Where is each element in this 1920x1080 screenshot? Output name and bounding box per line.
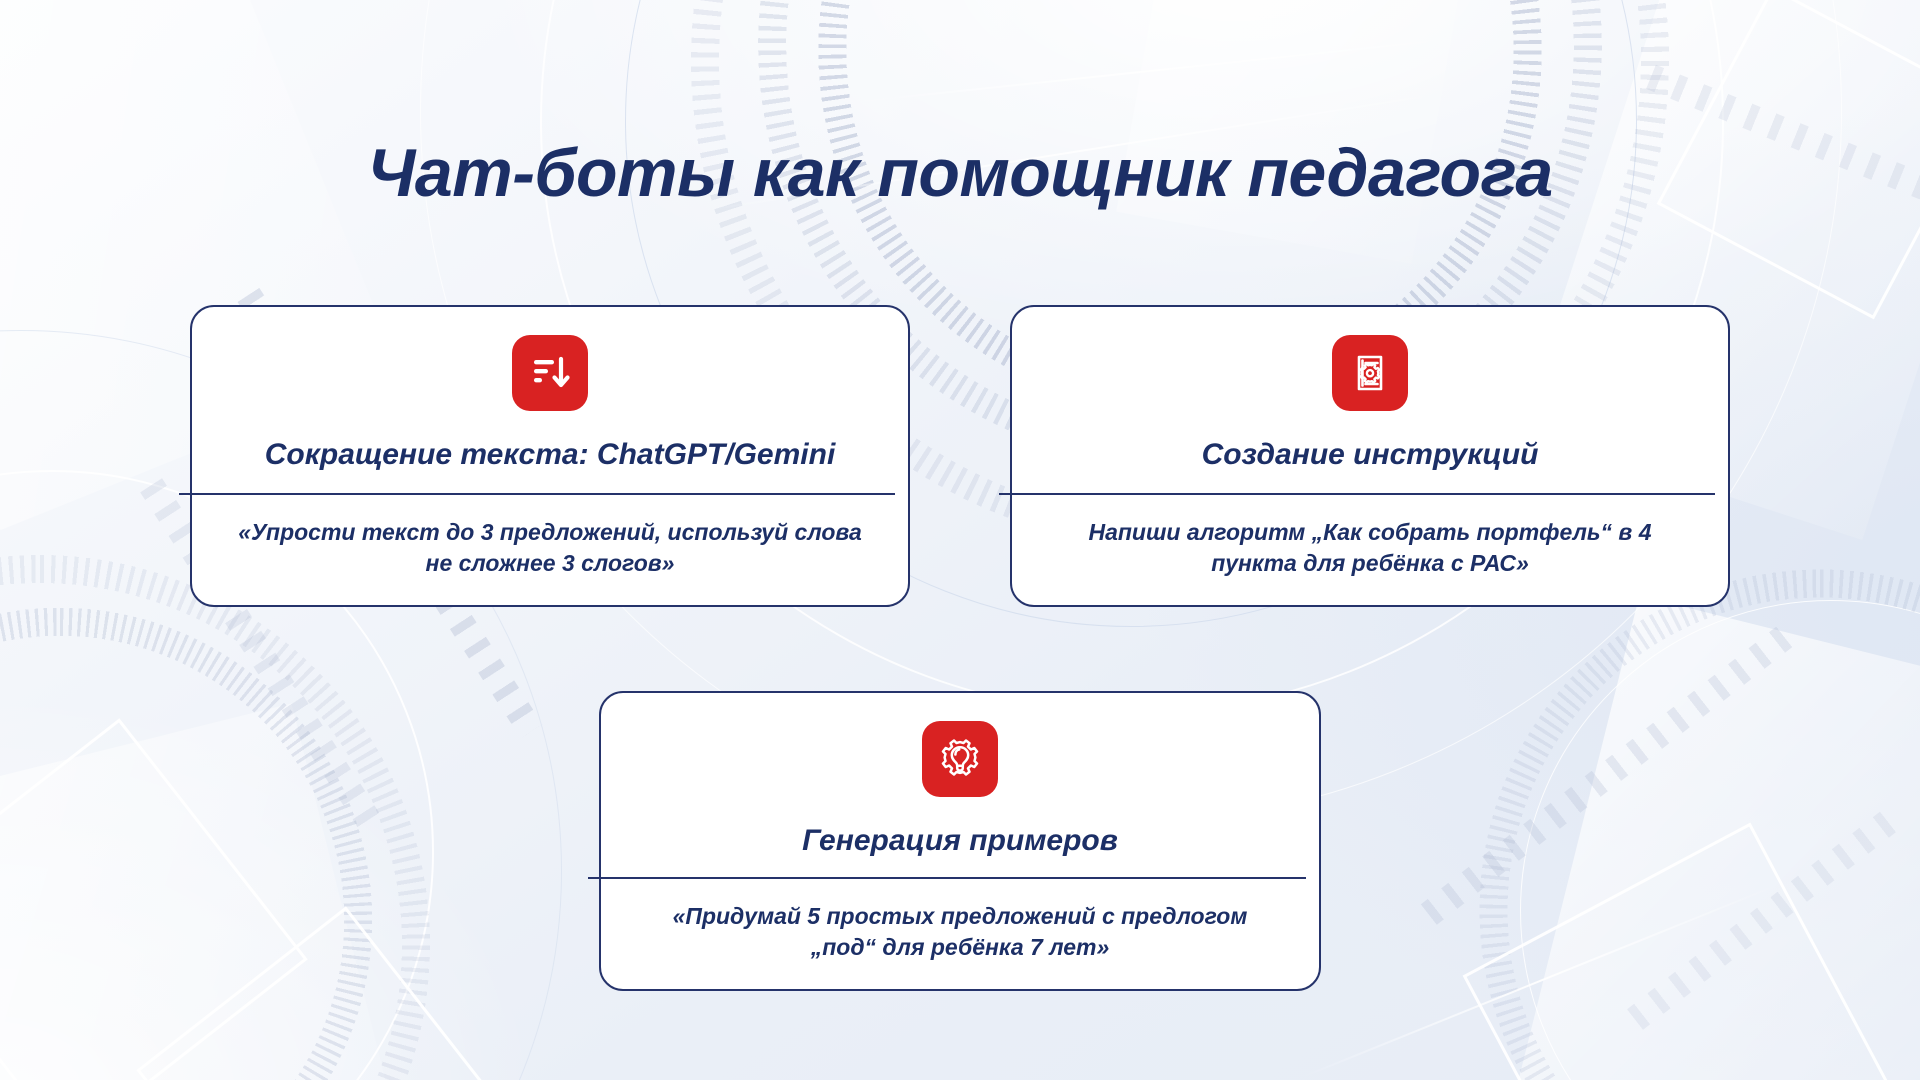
card-quote: «Упрости текст до 3 предложений, использ…	[218, 495, 882, 605]
card-quote: «Придумай 5 простых предложений с предло…	[627, 879, 1293, 989]
document-gear-instructions-icon	[1332, 335, 1408, 411]
card-title: Создание инструкций	[1038, 437, 1702, 493]
card-instruction-creation[interactable]: Создание инструкций Напиши алгоритм „Как…	[1010, 305, 1730, 607]
slide-content: Чат-боты как помощник педагога	[0, 0, 1920, 1080]
page-title: Чат-боты как помощник педагога	[0, 138, 1920, 209]
lightbulb-gear-idea-icon	[922, 721, 998, 797]
card-quote: Напиши алгоритм „Как собрать портфель“ в…	[1038, 495, 1702, 605]
card-text-shortening[interactable]: Сокращение текста: ChatGPT/Gemini «Упрос…	[190, 305, 910, 607]
card-title: Генерация примеров	[627, 823, 1293, 877]
cards-row-top: Сокращение текста: ChatGPT/Gemini «Упрос…	[190, 305, 1730, 607]
cards-row-bottom: Генерация примеров «Придумай 5 простых п…	[190, 691, 1730, 991]
cards-container: Сокращение текста: ChatGPT/Gemini «Упрос…	[190, 305, 1730, 991]
card-example-generation[interactable]: Генерация примеров «Придумай 5 простых п…	[599, 691, 1321, 991]
text-shorten-sort-descending-icon	[512, 335, 588, 411]
slide-root: Чат-боты как помощник педагога	[0, 0, 1920, 1080]
card-title: Сокращение текста: ChatGPT/Gemini	[218, 437, 882, 493]
